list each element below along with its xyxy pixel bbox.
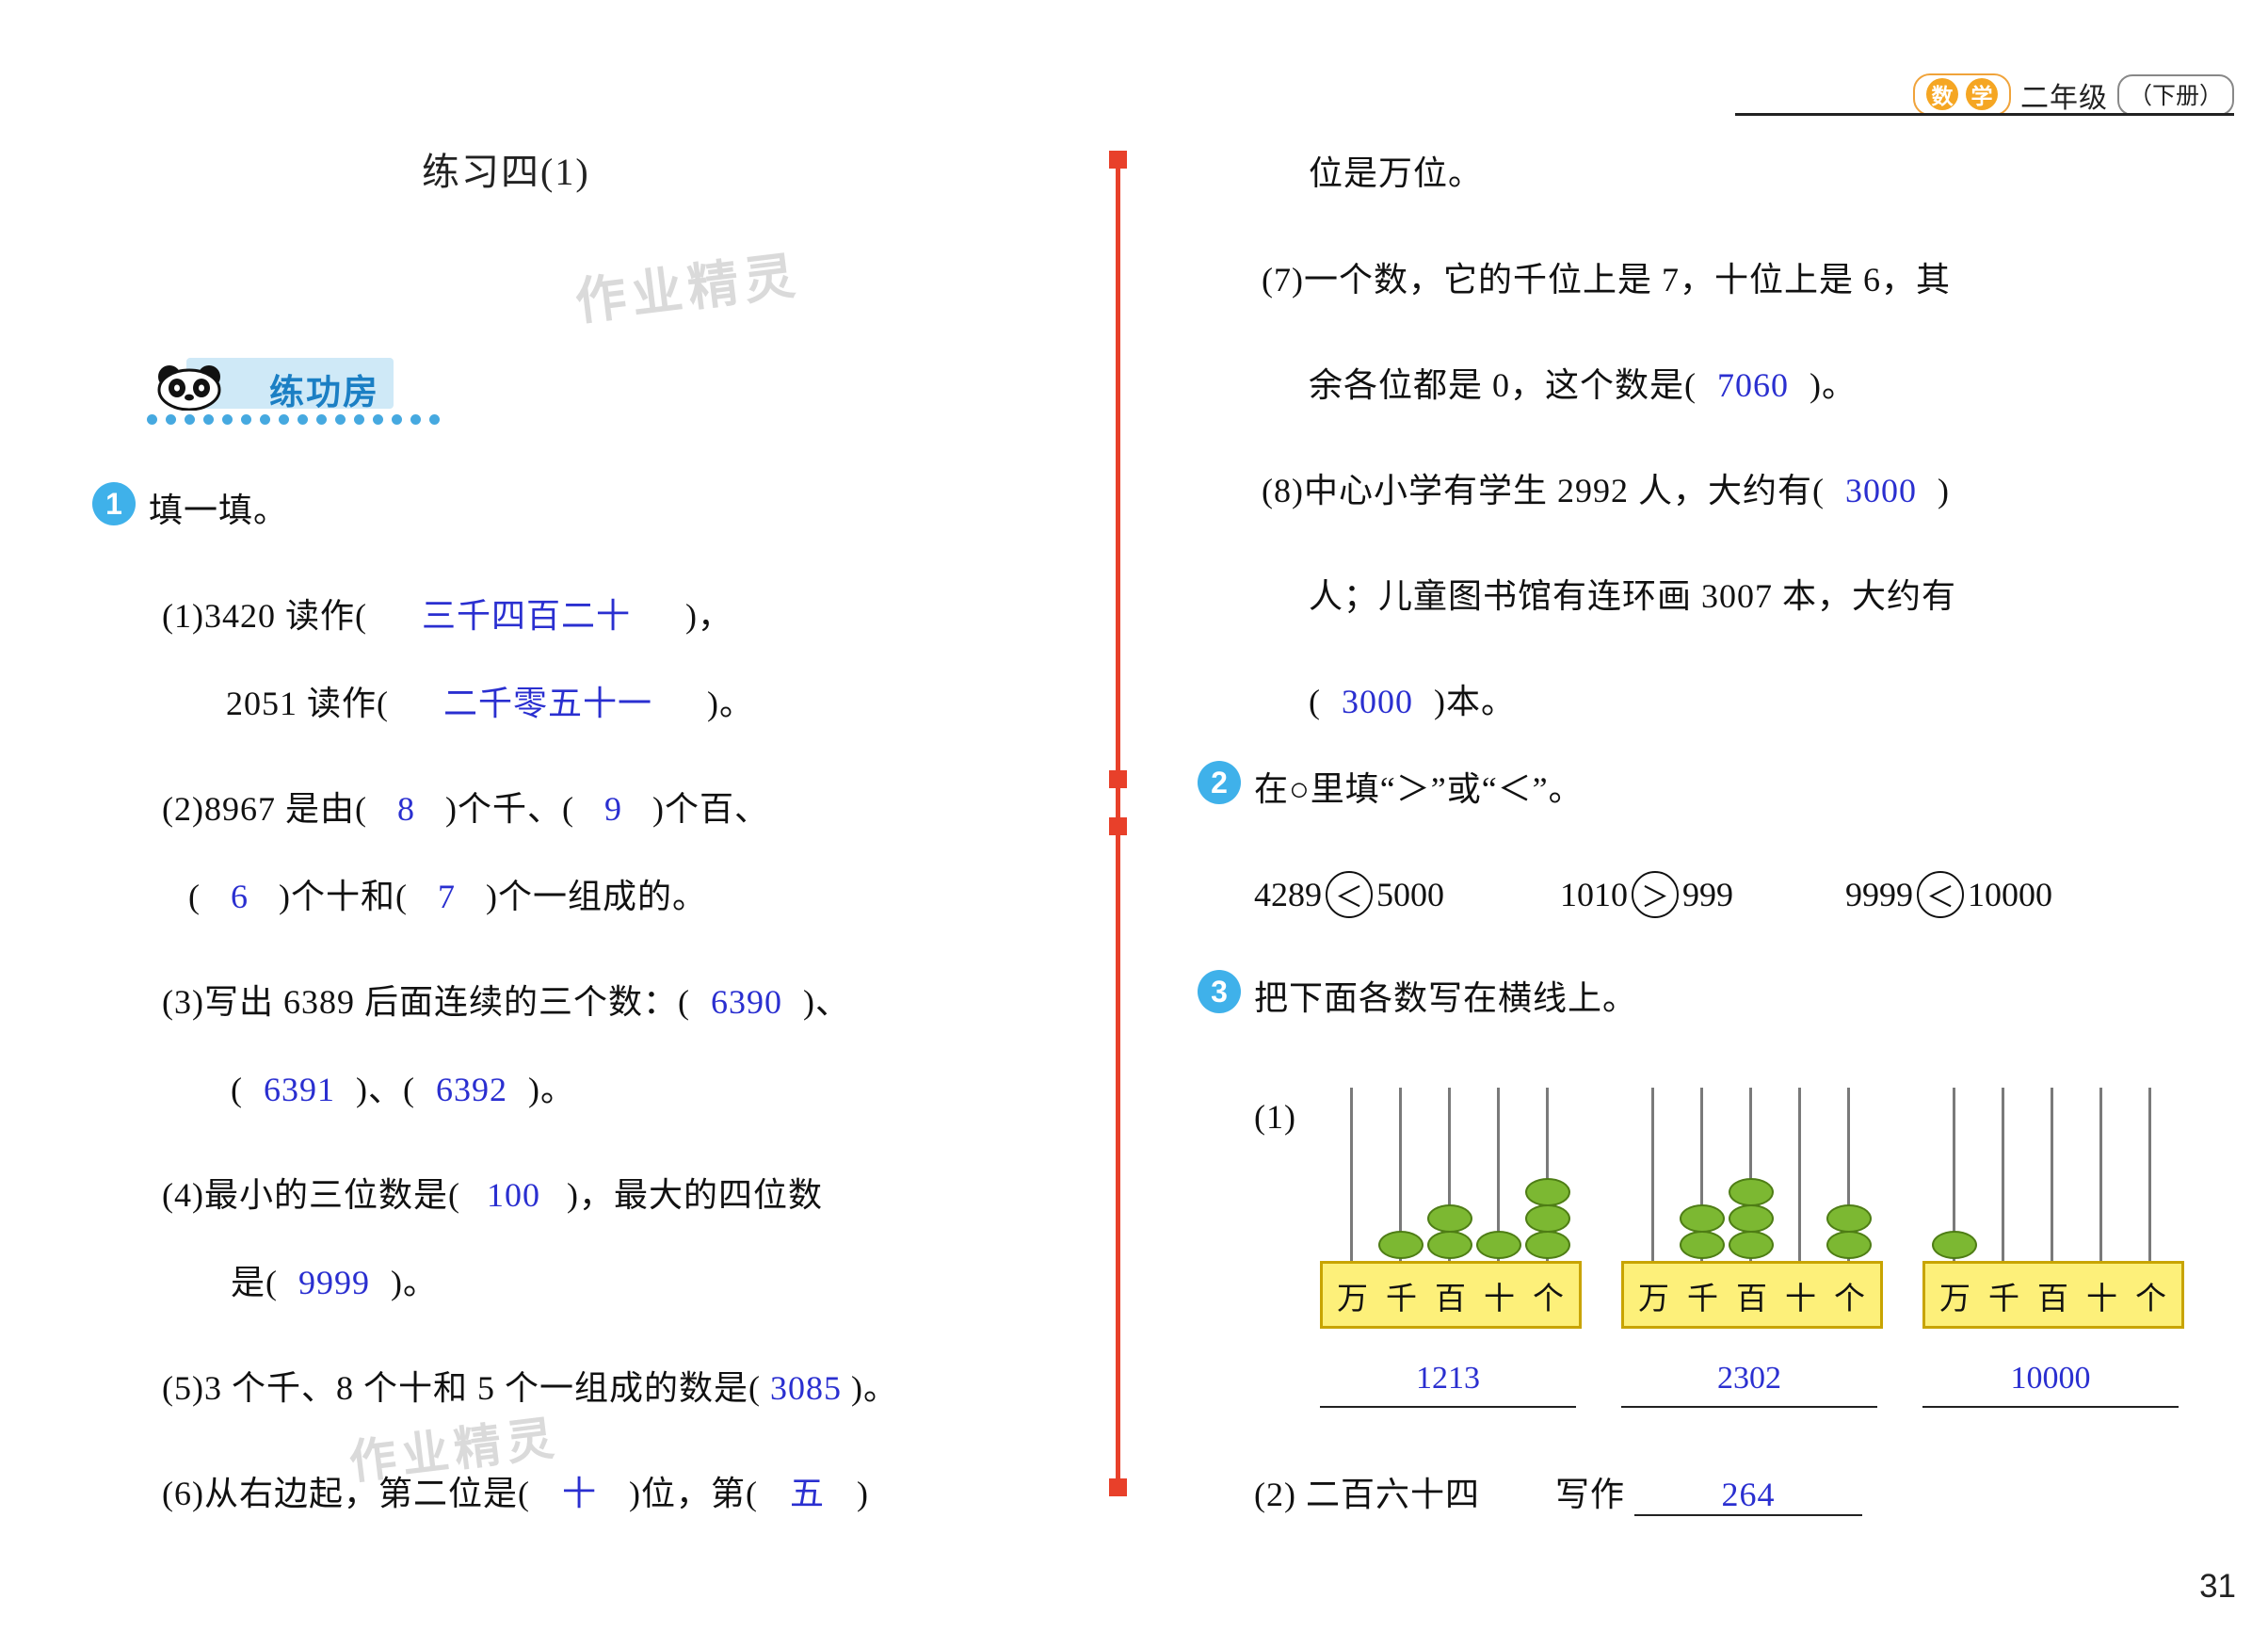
abacus-2-bead [1826, 1204, 1872, 1233]
q1-item3-line2-pre: ( [231, 1071, 243, 1108]
q3-sub2-line: (2) 二百六十四 写作 264 [1254, 1467, 1862, 1516]
q1-item5-mid1: )。 [851, 1369, 898, 1407]
divider-square-top [1109, 151, 1127, 169]
q2-comparison-1-right: 5000 [1376, 875, 1444, 914]
question-3-prompt: 把下面各数写在横线上。 [1254, 971, 1637, 1020]
q1-item3-line1: (3)写出 6389 后面连续的三个数：( 6390 )、 [162, 975, 850, 1024]
q1-item1-answer-1[interactable]: 三千四百二十 [422, 597, 631, 635]
abacus-1-bead [1427, 1204, 1472, 1233]
q2-comparison-2-right: 999 [1682, 875, 1733, 914]
q1-item8-mid1: )。 [1810, 366, 1857, 404]
q2-comparison-3-operator[interactable]: ＜ [1917, 871, 1964, 918]
abacus-1-bead [1476, 1231, 1521, 1259]
abacus-2-label-bai: 百 [1736, 1273, 1767, 1318]
q2-comparison-1-left: 4289 [1254, 875, 1322, 914]
q1-item3-answer-3[interactable]: 6392 [436, 1071, 507, 1108]
q1-item2-mid1: )个千、( [445, 790, 574, 828]
q1-item4-line1-pre: (4)最小的三位数是( [162, 1176, 460, 1214]
section-header-label: 练功房 [269, 363, 379, 414]
divider-square-mid2 [1109, 817, 1127, 835]
q1-item9-answer-1[interactable]: 3000 [1845, 472, 1917, 509]
abacus-2-bead [1729, 1231, 1774, 1259]
question-2-prompt: 在○里填“＞”或“＜”。 [1254, 762, 1584, 811]
q1-item1-answer-2[interactable]: 二千零五十一 [443, 685, 652, 722]
abacus-1-label-shi: 十 [1484, 1273, 1515, 1318]
q3-sub2-text: 二百六十四 [1306, 1476, 1480, 1513]
q1-item2-line2: ( 6 )个十和( 7 )个一组成的。 [188, 869, 707, 918]
q1-item2-answer-4[interactable]: 7 [438, 878, 456, 915]
q1-item2-answer-2[interactable]: 9 [604, 790, 622, 828]
q2-comparison-1-operator[interactable]: ＜ [1326, 871, 1373, 918]
worksheet-page: 数 学 二年级 （下册） 31 练习四(1) 作业精灵 作业精灵 [0, 0, 2268, 1647]
abacus-1-answer[interactable]: 1213 [1320, 1361, 1576, 1397]
q1-item8-line2: 余各位都是 0，这个数是( 7060 )。 [1309, 358, 1857, 407]
section-header-gongfang: 练功房 [73, 356, 394, 418]
q3-sub1-label: (1) [1254, 1097, 1296, 1137]
abacus-2-label-wan: 万 [1638, 1273, 1669, 1318]
left-column: 练习四(1) 作业精灵 作业精灵 练功房 [0, 0, 1111, 1647]
q3-sub2-write-label: 写作 [1555, 1476, 1625, 1513]
q1-item4-line2-pre: 是( [231, 1264, 278, 1301]
q1-item6-answer-1[interactable]: 十 [562, 1475, 597, 1512]
q3-sub2-answer[interactable]: 264 [1634, 1475, 1862, 1516]
abacus-2-bead [1729, 1204, 1774, 1233]
q1-item1-line2-post: )。 [707, 685, 754, 722]
q1-item5-line1-pre: (5)3 个千、8 个十和 5 个一组成的数是( [162, 1369, 761, 1407]
q1-item6-line1: (6)从右边起，第二位是( 十 )位，第( 五 ) [162, 1466, 869, 1515]
q1-item6-answer-2[interactable]: 五 [790, 1475, 825, 1512]
abacus-2-bead [1729, 1178, 1774, 1206]
abacus-1: 万 千 百 十 个 1213 [1327, 1088, 1582, 1323]
q1-item1-line2: 2051 读作( 二千零五十一 )。 [226, 676, 754, 725]
abacus-3-answer-line [1922, 1406, 2179, 1408]
abacus-3: 万 千 百 十 个 10000 [1930, 1088, 2184, 1323]
q1-item6-mid2: ) [857, 1475, 869, 1512]
q1-item2-mid3: )个十和( [279, 878, 408, 915]
abacus-2-answer[interactable]: 2302 [1621, 1361, 1877, 1397]
q1-item4-answer-1[interactable]: 100 [487, 1176, 540, 1214]
section-header-dots [147, 414, 458, 428]
q2-comparison-1: 4289 ＜ 5000 [1254, 871, 1444, 918]
q2-comparison-3-right: 10000 [1968, 875, 2052, 914]
q2-comparison-3-left: 9999 [1845, 875, 1913, 914]
q1-item9-mid1: ) [1938, 472, 1950, 509]
abacus-1-label-qian: 千 [1386, 1273, 1417, 1318]
q2-comparison-2: 1010 ＞ 999 [1560, 871, 1733, 918]
q1-item2-line1: (2)8967 是由( 8 )个千、( 9 )个百、 [162, 782, 769, 831]
panda-icon [151, 362, 243, 411]
q1-item3-mid1: )、 [803, 983, 850, 1021]
abacus-2-label-shi: 十 [1785, 1273, 1816, 1318]
right-column: 位是万位。 (7)一个数，它的千位上是 7，十位上是 6，其 余各位都是 0，这… [1130, 0, 2268, 1647]
abacus-1-bead [1525, 1231, 1570, 1259]
q1-item2-answer-1[interactable]: 8 [397, 790, 415, 828]
q1-item5-line1: (5)3 个千、8 个十和 5 个一组成的数是( 3085 )。 [162, 1361, 898, 1410]
question-1-number: 1 [92, 482, 136, 525]
question-2-number: 2 [1198, 761, 1241, 804]
abacus-2-bead [1680, 1204, 1725, 1233]
divider-square-mid1 [1109, 770, 1127, 788]
q1-item1-line1: (1)3420 读作( 三千四百二十 )， [162, 589, 732, 638]
abacus-3-label-wan: 万 [1939, 1273, 1970, 1318]
abacus-1-bead [1525, 1178, 1570, 1206]
abacus-1-bead [1427, 1231, 1472, 1259]
q1-item8-answer-1[interactable]: 7060 [1717, 366, 1789, 404]
q1-item6-line1-pre: (6)从右边起，第二位是( [162, 1475, 530, 1512]
q2-comparison-2-left: 1010 [1560, 875, 1628, 914]
abacus-3-label-shi: 十 [2086, 1273, 2117, 1318]
abacus-2-bead [1680, 1231, 1725, 1259]
q1-item4-mid2: )。 [391, 1264, 438, 1301]
q3-sub2-label: (2) [1254, 1476, 1296, 1513]
q1-item9-answer-2[interactable]: 3000 [1342, 683, 1413, 720]
q1-item2-mid4: )个一组成的。 [486, 878, 707, 915]
abacus-1-bead [1378, 1231, 1424, 1259]
abacus-1-label-ge: 个 [1533, 1273, 1564, 1318]
q1-item4-line2: 是( 9999 )。 [231, 1255, 438, 1304]
q1-item5-answer-1[interactable]: 3085 [770, 1369, 842, 1407]
q1-item4-mid1: )，最大的四位数 [567, 1176, 823, 1214]
abacus-2-label-qian: 千 [1687, 1273, 1718, 1318]
q1-item4-answer-2[interactable]: 9999 [298, 1264, 370, 1301]
abacus-2: 万 千 百 十 个 2302 [1629, 1088, 1883, 1323]
q1-item3-mid3: )。 [528, 1071, 575, 1108]
q1-item2-line1-pre: (2)8967 是由( [162, 790, 367, 828]
q1-item3-line2: ( 6391 )、( 6392 )。 [231, 1062, 575, 1111]
abacus-3-label-qian: 千 [1988, 1273, 2019, 1318]
q2-comparison-3: 9999 ＜ 10000 [1845, 871, 2052, 918]
question-3-number: 3 [1198, 970, 1241, 1013]
abacus-2-bead [1826, 1231, 1872, 1259]
q1-item6-mid1: )位，第( [629, 1475, 758, 1512]
abacus-3-answer[interactable]: 10000 [1922, 1361, 2179, 1397]
q1-item8-line1: (7)一个数，它的千位上是 7，十位上是 6，其 [1262, 252, 1951, 301]
q1-item4-line1: (4)最小的三位数是( 100 )，最大的四位数 [162, 1168, 823, 1217]
q1-item2-mid2: )个百、 [652, 790, 769, 828]
abacus-2-label-ge: 个 [1834, 1273, 1865, 1318]
q1-item9-line1: (8)中心小学有学生 2992 人，大约有( 3000 ) [1262, 463, 1950, 512]
page-title: 练习四(1) [422, 141, 590, 196]
abacus-1-label-bai: 百 [1435, 1273, 1466, 1318]
abacus-3-label-bai: 百 [2037, 1273, 2068, 1318]
abacus-3-label-ge: 个 [2135, 1273, 2166, 1318]
divider-square-bottom [1109, 1478, 1127, 1496]
abacus-1-label-wan: 万 [1337, 1273, 1368, 1318]
q1-item9-line3: ( 3000 )本。 [1309, 674, 1516, 723]
q1-item9-line1-pre: (8)中心小学有学生 2992 人，大约有( [1262, 472, 1825, 509]
q1-item9-line3-pre: ( [1309, 683, 1321, 720]
q1-item1-line1-post: )， [685, 597, 732, 635]
question-1-prompt: 填一填。 [149, 483, 288, 532]
q1-item9-mid2: )本。 [1434, 683, 1516, 720]
q1-item1-line1-pre: (1)3420 读作( [162, 597, 367, 635]
q1-item2-line2-pre: ( [188, 878, 201, 915]
abacus-1-answer-line [1320, 1406, 1576, 1408]
q1-item3-line1-pre: (3)写出 6389 后面连续的三个数：( [162, 983, 690, 1021]
q1-item9-line2: 人；儿童图书馆有连环画 3007 本，大约有 [1309, 569, 1956, 618]
q1-item3-answer-1[interactable]: 6390 [711, 983, 782, 1021]
q2-comparison-2-operator[interactable]: ＞ [1632, 871, 1679, 918]
abacus-2-answer-line [1621, 1406, 1877, 1408]
q1-item2-answer-3[interactable]: 6 [231, 878, 249, 915]
q1-item8-line2-pre: 余各位都是 0，这个数是( [1309, 366, 1697, 404]
q1-item3-answer-2[interactable]: 6391 [264, 1071, 335, 1108]
q1-item7-line1: 位是万位。 [1309, 146, 1483, 195]
q1-item1-line2-pre: 2051 读作( [226, 685, 389, 722]
q1-item3-mid2: )、( [356, 1071, 415, 1108]
watermark-1: 作业精灵 [571, 234, 804, 335]
abacus-1-bead [1525, 1204, 1570, 1233]
abacus-3-bead [1932, 1231, 1977, 1259]
